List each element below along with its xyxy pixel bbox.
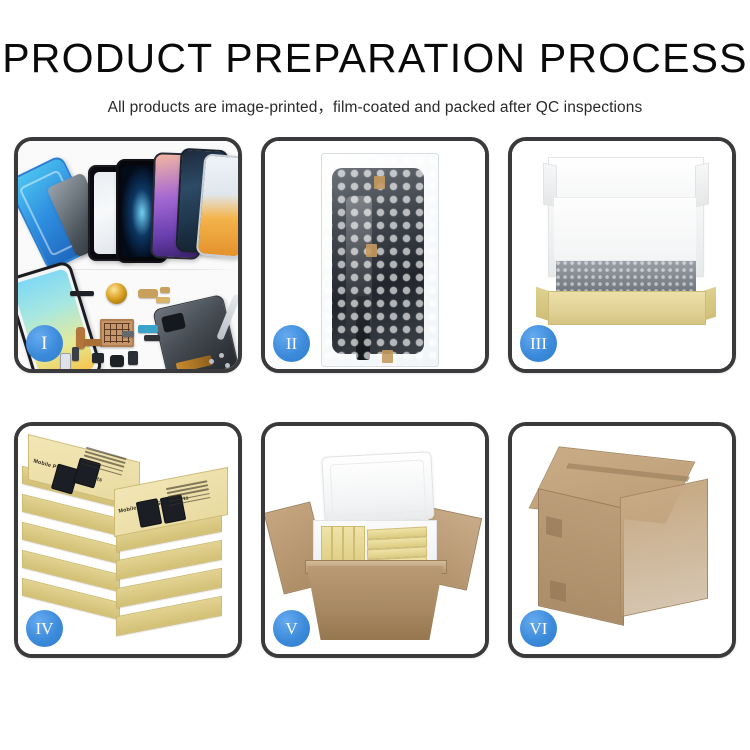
small-part	[70, 291, 94, 296]
carton-tab	[550, 580, 566, 602]
step-badge-5: V	[273, 610, 310, 647]
small-part	[92, 353, 104, 363]
small-part	[84, 339, 102, 346]
small-part	[144, 335, 160, 341]
process-card-4[interactable]: Mobile Phone Spare Parts Mobile Phone Sp…	[14, 422, 242, 658]
tape-piece	[374, 176, 385, 189]
small-part	[110, 355, 124, 367]
grey-bubble-layer	[556, 261, 696, 295]
small-part	[122, 331, 134, 337]
page-title: PRODUCT PREPARATION PROCESS	[0, 38, 750, 79]
carton-tab	[546, 516, 562, 538]
carton-front-face	[538, 488, 624, 626]
step-badge-2: II	[273, 325, 310, 362]
small-part	[72, 347, 79, 361]
screw	[219, 353, 224, 358]
small-part	[76, 327, 85, 349]
page-header: PRODUCT PREPARATION PROCESS All products…	[0, 0, 750, 117]
process-card-6[interactable]: VI	[508, 422, 736, 658]
carton-side-face	[620, 479, 708, 618]
small-part	[160, 287, 170, 293]
step-badge-3: III	[520, 325, 557, 362]
step-badge-4: IV	[26, 610, 63, 647]
process-card-3[interactable]: III	[508, 137, 736, 373]
box-print-screen-image	[136, 498, 163, 528]
tape-piece	[366, 244, 377, 257]
foam-wall	[554, 197, 696, 260]
carton-body	[307, 566, 443, 640]
foam-box-lid	[321, 451, 434, 525]
step-badge-6: VI	[520, 610, 557, 647]
step-badge-1: I	[26, 325, 63, 362]
speaker-coil-part	[106, 283, 127, 304]
tape-piece	[438, 350, 439, 363]
page-subtitle: All products are image-printed，film-coat…	[0, 95, 750, 117]
small-part	[60, 353, 71, 369]
screw	[225, 363, 230, 368]
bubble-wrap-bag	[321, 153, 439, 367]
kraft-box-tray	[548, 291, 706, 325]
process-card-2[interactable]: II	[261, 137, 489, 373]
tape-piece	[382, 350, 393, 363]
small-part	[138, 289, 158, 298]
screw	[209, 359, 214, 364]
small-part	[156, 297, 170, 303]
small-part	[138, 325, 158, 333]
process-card-5[interactable]: V	[261, 422, 489, 658]
process-steps-grid: I II	[14, 137, 736, 658]
process-card-1[interactable]: I	[14, 137, 242, 373]
small-part	[128, 351, 138, 365]
